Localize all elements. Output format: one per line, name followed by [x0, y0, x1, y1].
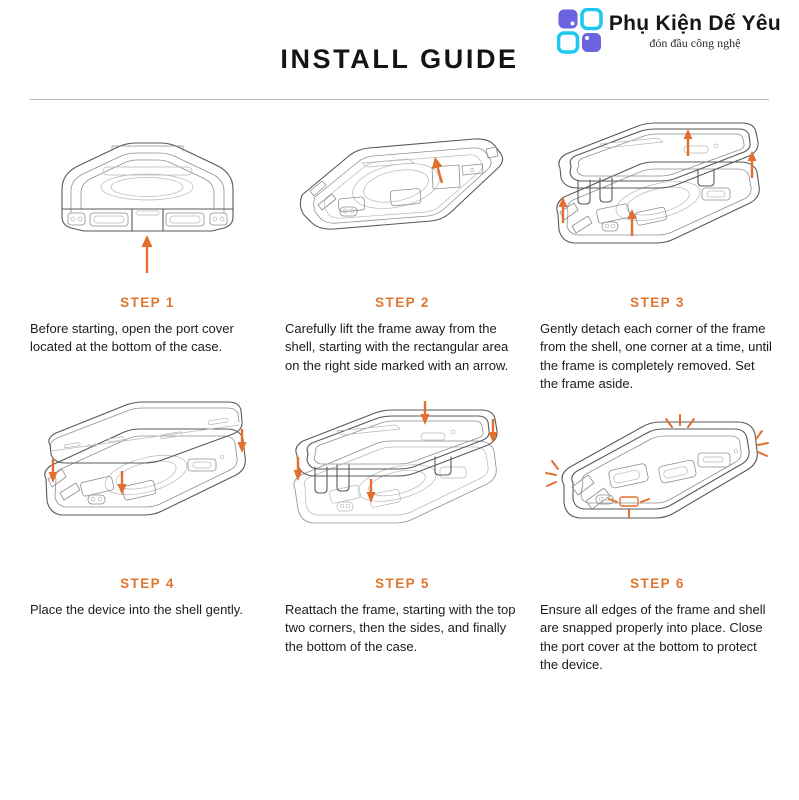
step-figure-2 [285, 108, 520, 293]
page-header: Phụ Kiện Dế Yêu đón đầu công nghệ INSTAL… [0, 0, 799, 100]
step-cell-6: STEP 6 Ensure all edges of the frame and… [530, 394, 785, 675]
frame-lifting-off-shell-illustration [540, 118, 775, 283]
step-figure-1 [30, 108, 265, 293]
header-divider [30, 99, 769, 100]
step-6-snap-sparks-icon [546, 415, 768, 517]
step-text-1: Before starting, open the port cover loc… [30, 320, 265, 357]
step-figure-3 [540, 108, 775, 293]
step-label-3: STEP 3 [540, 295, 775, 310]
step-cell-5: STEP 5 Reattach the frame, starting with… [275, 394, 530, 675]
step-cell-4: STEP 4 Place the device into the shell g… [20, 394, 275, 675]
assembled-case-snap-illustration [540, 401, 775, 566]
step-text-3: Gently detach each corner of the frame f… [540, 320, 775, 394]
step-figure-4 [30, 394, 265, 574]
install-guide-page: { "header": { "title": "INSTALL GUIDE", … [0, 0, 799, 800]
case-bottom-port-cover-illustration [40, 121, 255, 281]
step-label-1: STEP 1 [30, 295, 265, 310]
step-cell-1: STEP 1 Before starting, open the port co… [20, 108, 275, 394]
step-2-arrow-icon [432, 157, 443, 183]
step-label-4: STEP 4 [30, 576, 265, 591]
step-figure-5 [285, 394, 520, 574]
frame-reattach-illustration [285, 401, 520, 566]
step-cell-2: STEP 2 Carefully lift the frame away fro… [275, 108, 530, 394]
step-text-6: Ensure all edges of the frame and shell … [540, 601, 775, 675]
step-1-arrow-icon [142, 235, 153, 273]
device-into-shell-illustration [30, 401, 265, 566]
steps-grid: STEP 1 Before starting, open the port co… [0, 108, 799, 675]
page-title: INSTALL GUIDE [0, 44, 799, 75]
step-text-2: Carefully lift the frame away from the s… [285, 320, 520, 375]
step-text-5: Reattach the frame, starting with the to… [285, 601, 520, 656]
step-label-5: STEP 5 [285, 576, 520, 591]
step-cell-3: STEP 3 Gently detach each corner of the … [530, 108, 785, 394]
brand-name: Phụ Kiện Dế Yêu [609, 13, 781, 34]
step-figure-6 [540, 394, 775, 574]
case-angled-magsafe-illustration [290, 121, 515, 281]
step-label-6: STEP 6 [540, 576, 775, 591]
step-label-2: STEP 2 [285, 295, 520, 310]
step-text-4: Place the device into the shell gently. [30, 601, 265, 619]
